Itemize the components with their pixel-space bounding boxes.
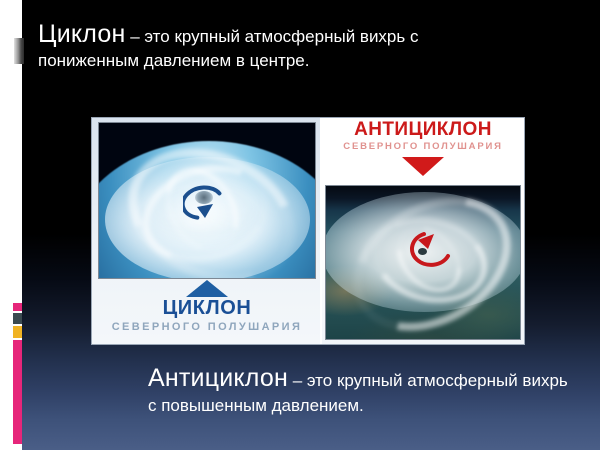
anticyclone-satellite-photo xyxy=(326,186,520,339)
cyclone-satellite-photo xyxy=(99,123,315,278)
triangle-up-icon xyxy=(186,280,228,297)
cyclone-definition-text: Циклон – это крупный атмосферный вихрь с… xyxy=(38,18,468,72)
anticyclone-definition-text: Антициклон – это крупный атмосферный вих… xyxy=(148,362,578,417)
rail-segment-gold xyxy=(13,326,22,338)
cyclone-caption-main: ЦИКЛОН xyxy=(92,298,322,319)
cyclone-rotation-arrow-icon xyxy=(183,181,239,225)
anticyclone-caption-sub: СЕВЕРНОГО ПОЛУШАРИЯ xyxy=(322,141,524,152)
slide-canvas: Циклон – это крупный атмосферный вихрь с… xyxy=(0,0,600,450)
anticyclone-term: Антициклон xyxy=(148,364,288,392)
rail-segment-pink-top xyxy=(13,303,22,311)
rail-top-metal-block xyxy=(14,38,24,64)
figure-left-panel: ЦИКЛОН СЕВЕРНОГО ПОЛУШАРИЯ xyxy=(92,118,322,344)
figure-right-panel: АНТИЦИКЛОН СЕВЕРНОГО ПОЛУШАРИЯ xyxy=(322,118,524,344)
cyclone-term: Циклон xyxy=(38,20,125,48)
rail-segment-pink-long xyxy=(13,340,22,444)
anticyclone-rotation-arrow-icon xyxy=(408,222,464,268)
cyclone-caption-block: ЦИКЛОН СЕВЕРНОГО ПОЛУШАРИЯ xyxy=(92,280,322,333)
triangle-down-icon xyxy=(402,157,444,176)
anticyclone-caption-block: АНТИЦИКЛОН СЕВЕРНОГО ПОЛУШАРИЯ xyxy=(322,120,524,176)
anticyclone-caption-main: АНТИЦИКЛОН xyxy=(322,120,524,139)
rail-segment-teal xyxy=(13,313,22,324)
cyclone-anticyclone-figure: ЦИКЛОН СЕВЕРНОГО ПОЛУШАРИЯ АНТИЦИКЛОН СЕ… xyxy=(92,118,524,344)
cyclone-caption-sub: СЕВЕРНОГО ПОЛУШАРИЯ xyxy=(92,321,322,333)
